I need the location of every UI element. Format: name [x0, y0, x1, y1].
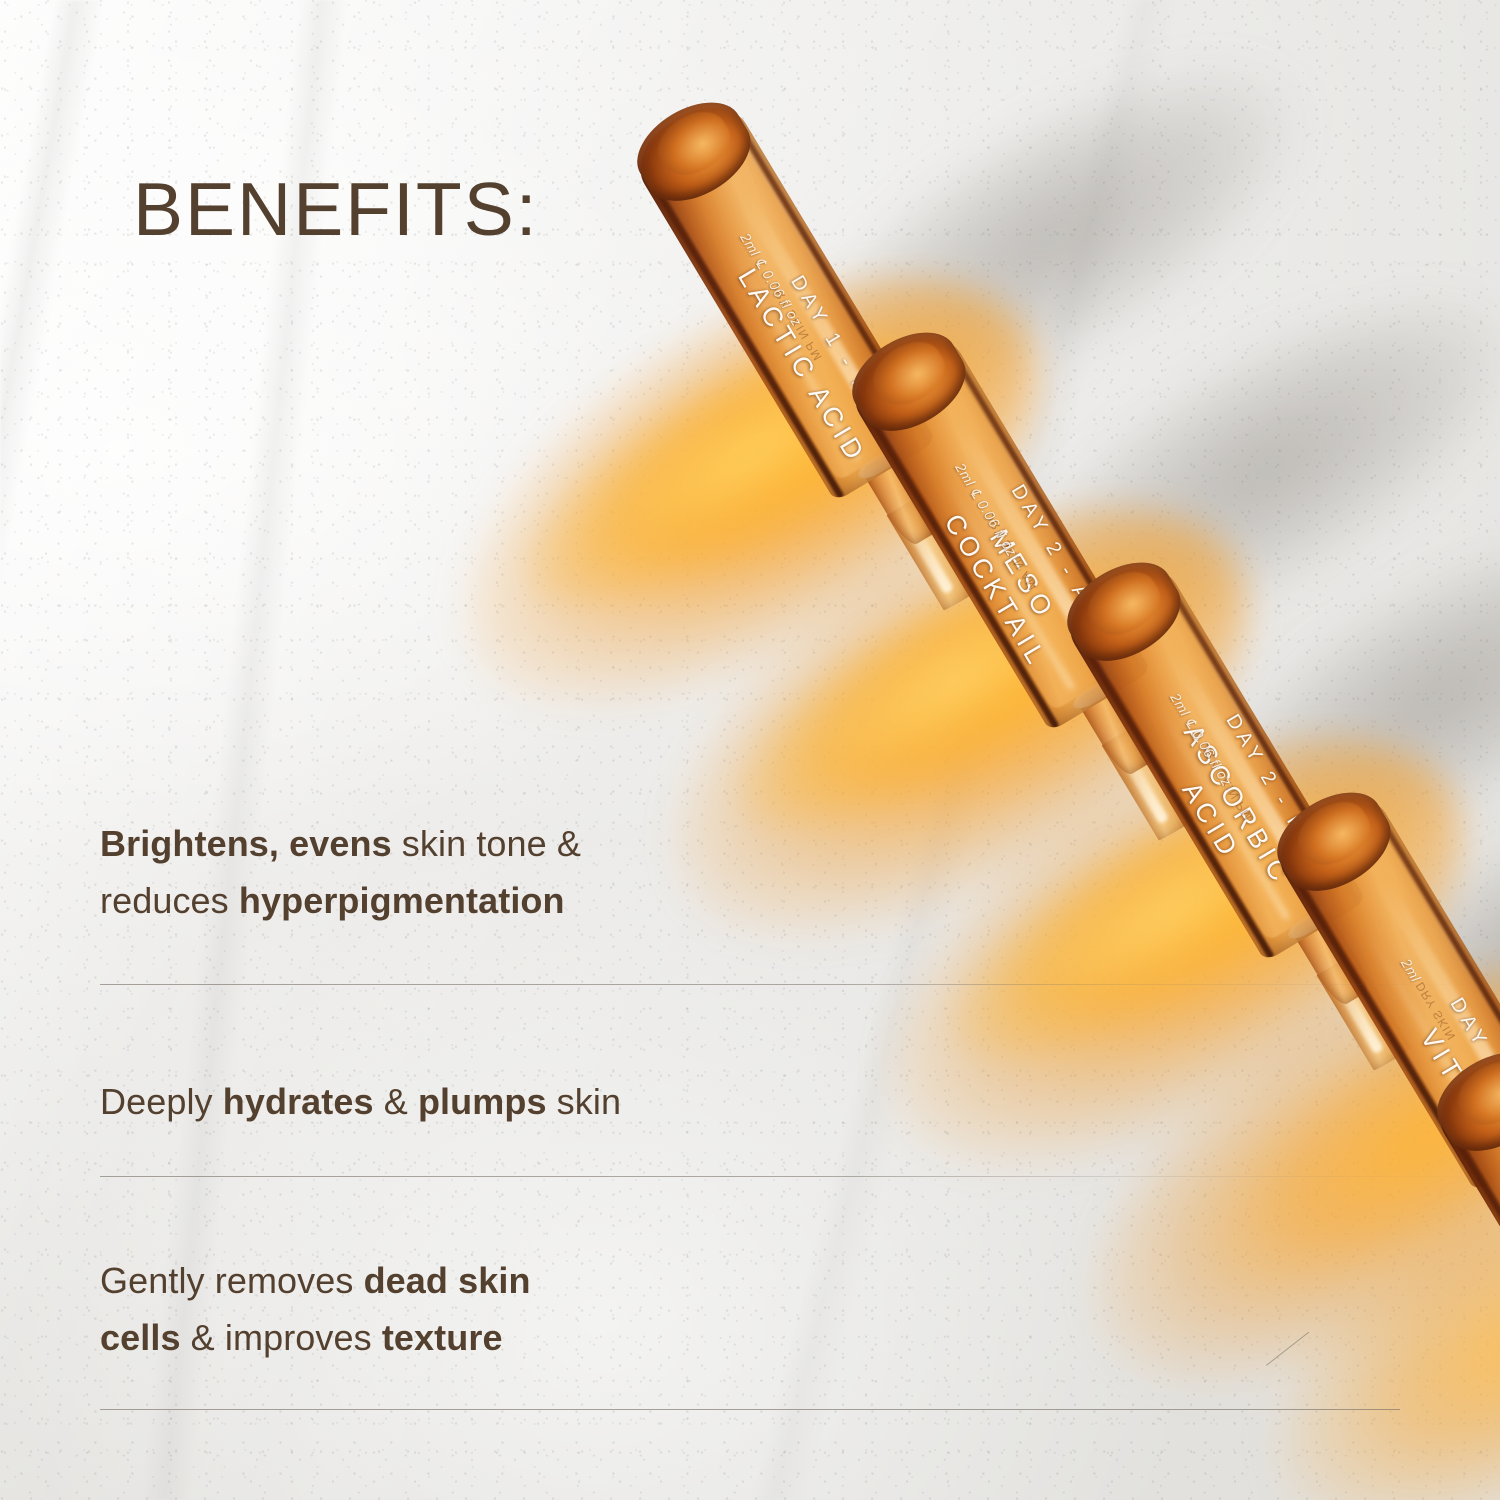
- benefit-line-2: reduces hyperpigmentation: [100, 873, 800, 930]
- benefit-text: &: [374, 1081, 418, 1122]
- benefit-emphasis: cells: [100, 1317, 181, 1358]
- benefit-line-1: Gently removes dead skin: [100, 1253, 800, 1310]
- benefit-line-1: Deeply hydrates & plumps skin: [100, 1074, 800, 1131]
- benefit-text: & improves: [181, 1317, 382, 1358]
- benefit-item-hydrates: Deeply hydrates & plumps skin: [100, 1074, 800, 1131]
- benefit-line-1: Brightens, evens skin tone &: [100, 816, 800, 873]
- benefit-emphasis: dead skin: [364, 1260, 531, 1301]
- benefit-emphasis: texture: [382, 1317, 503, 1358]
- benefit-text: skin: [547, 1081, 622, 1122]
- benefit-text: skin tone &: [392, 823, 581, 864]
- benefit-line-2: cells & improves texture: [100, 1310, 800, 1367]
- benefit-text: reduces: [100, 880, 239, 921]
- benefit-text: Deeply: [100, 1081, 223, 1122]
- benefit-item-exfoliates: Gently removes dead skin cells & improve…: [100, 1253, 800, 1367]
- benefit-emphasis: hyperpigmentation: [239, 880, 565, 921]
- divider-2: [100, 1176, 1495, 1177]
- product-benefits-graphic: DAY 1 - PM LACTIC ACID DRY SKIN PM 2ml ℄…: [0, 0, 1500, 1500]
- page-title: BENEFITS:: [133, 166, 539, 252]
- divider-3: [100, 1409, 1400, 1410]
- divider-1: [100, 984, 1495, 985]
- benefit-emphasis: plumps: [418, 1081, 547, 1122]
- benefit-emphasis: Brightens, evens: [100, 823, 392, 864]
- benefit-text: Gently removes: [100, 1260, 364, 1301]
- benefit-emphasis: hydrates: [223, 1081, 374, 1122]
- benefit-item-brightens: Brightens, evens skin tone & reduces hyp…: [100, 816, 800, 930]
